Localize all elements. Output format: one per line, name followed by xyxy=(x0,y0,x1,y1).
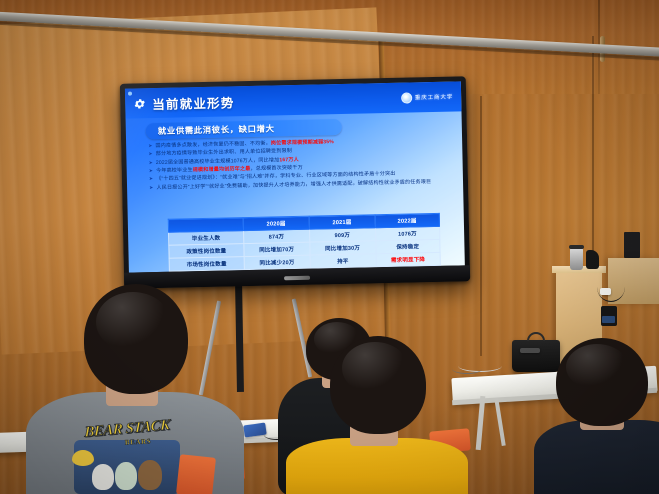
kettle-lid xyxy=(569,245,584,249)
presentation-slide: 当前就业形势 重庆工商大学 就业供需此消彼长，缺口增大 ➤国内疫情多点散发，经济… xyxy=(125,81,465,272)
equipment-indicator xyxy=(602,316,615,323)
table-cell: 需求明显下降 xyxy=(376,252,441,266)
slide-subtitle-text: 就业供需此消彼长，缺口增大 xyxy=(158,122,275,137)
orange-chair[interactable] xyxy=(176,454,216,494)
kettle-base-unit xyxy=(586,250,599,269)
shirt-text-block: BEAR STACK BEARS xyxy=(62,422,192,446)
bullet-arrow-icon: ➤ xyxy=(148,143,153,151)
header-dot-icon xyxy=(128,92,132,96)
slide-bullet-list: ➤国内疫情多点散发，经济恢复仍不稳固、不均衡，岗位需求规模预期减弱35%➤部分地… xyxy=(148,137,449,194)
black-equipment-bag xyxy=(512,340,560,372)
slide-header: 当前就业形势 重庆工商大学 xyxy=(125,81,462,118)
university-name: 重庆工商大学 xyxy=(415,93,454,102)
gear-icon xyxy=(133,97,146,110)
wall-mounted-box xyxy=(624,232,640,258)
bullet-arrow-icon: ➤ xyxy=(148,160,153,168)
bullet-arrow-icon: ➤ xyxy=(149,185,154,193)
slide-subtitle-banner: 就业供需此消彼长，缺口增大 xyxy=(146,119,342,139)
bullet-arrow-icon: ➤ xyxy=(148,151,153,159)
bag-strap xyxy=(520,348,540,353)
tv-brand-strip xyxy=(284,276,310,281)
slide-title: 当前就业形势 xyxy=(152,92,235,113)
shirt-bear-panda xyxy=(115,462,137,490)
classroom-scene: 当前就业形势 重庆工商大学 就业供需此消彼长，缺口增大 ➤国内疫情多点散发，经济… xyxy=(0,0,659,494)
student-body xyxy=(534,420,659,494)
wall-display[interactable]: 当前就业形势 重庆工商大学 就业供需此消彼长，缺口增大 ➤国内疫情多点散发，经济… xyxy=(120,76,470,288)
bullet-arrow-icon: ➤ xyxy=(149,176,154,184)
hair-highlight xyxy=(96,292,170,352)
student-body xyxy=(286,438,468,494)
shirt-bear-white xyxy=(92,464,114,490)
table-body: 毕业生人数874万909万1076万政策性岗位数量同比增加70万同比增加30万保… xyxy=(169,226,441,271)
shirt-bear-brown xyxy=(138,460,162,490)
table-cell: 持平 xyxy=(310,254,376,268)
bullet-arrow-icon: ➤ xyxy=(149,168,154,176)
power-cable xyxy=(597,272,625,302)
table-cell: 同比减少20万 xyxy=(244,255,310,269)
wall-seam xyxy=(480,96,482,356)
university-logo: 重庆工商大学 xyxy=(401,91,454,103)
shirt-moon-shape xyxy=(72,450,94,466)
university-emblem-icon xyxy=(401,92,412,103)
hair-highlight xyxy=(566,344,628,390)
slide-data-table: 2020届2021届2022届 毕业生人数874万909万1076万政策性岗位数… xyxy=(168,213,441,272)
loose-cable xyxy=(452,364,482,374)
electric-kettle xyxy=(570,248,583,270)
table-row-header: 市场性岗位数量 xyxy=(169,257,244,272)
hair-highlight xyxy=(342,342,408,394)
